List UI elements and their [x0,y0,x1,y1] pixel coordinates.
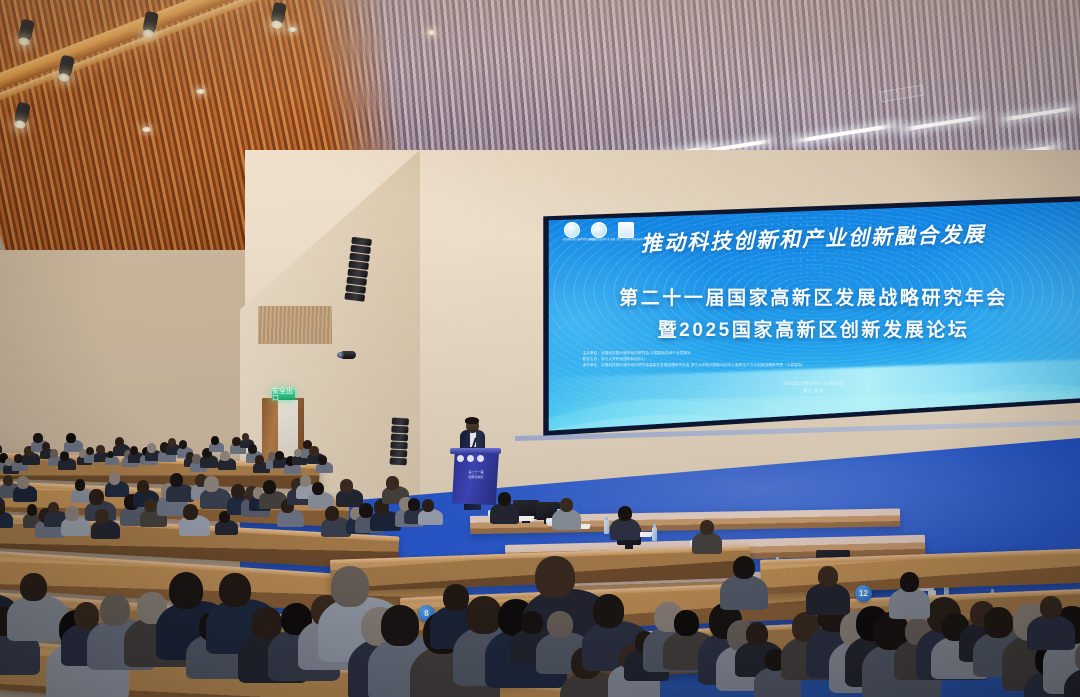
audience-head [231,484,245,499]
seat-number-badge[interactable]: 12 [855,585,872,602]
ceiling-downlight [288,27,297,32]
audience-head [75,479,86,491]
podium-label: 第二十一届 国家高新区 [456,470,496,479]
audience-head [255,455,264,464]
audience-head [263,480,276,494]
audience-head [535,556,575,598]
audience-head [211,436,219,445]
audience-head [204,476,219,492]
audience-head [144,499,157,513]
audience-head [248,444,257,454]
audience-head [17,476,29,489]
audience-head [20,573,47,602]
audience-head [325,506,339,521]
exit-sign-label: 安全出口 [272,388,295,402]
audience-shoulders [692,532,723,554]
audience-head [169,572,204,609]
audience-head [170,473,183,487]
audience-head [220,451,230,461]
organizer-line-3: 承办单位：全国科技振兴城市经济研究会高新区发展战略研究分会 浙江大学杭州国际科创… [583,362,806,368]
audience-head [115,437,124,447]
podium-top [450,448,501,454]
audience-head [66,433,76,444]
audience-head [443,584,469,611]
audience-head [168,438,176,447]
audience-head [340,479,353,493]
audience-shoulders [1027,615,1075,650]
audience-shoulders [806,583,850,615]
ceiling-downlight [196,89,205,94]
audience-head [331,566,369,607]
audience-head [130,446,139,455]
audience-shoulders [166,484,194,502]
screen-title-line-2: 暨2025国家高新区创新发展论坛 [545,321,1080,340]
audience-head [86,447,94,456]
water-bottle [604,520,609,534]
audience-head [309,446,318,456]
audience-head [147,443,156,452]
conference-hall-photo: 安全出口 全国科技振兴城市经济研究会 中国高新技术产业导报 [0,0,1080,697]
audience-head [386,476,399,490]
line-array-speaker [389,418,408,467]
audience-head [109,472,120,484]
audience-shoulders [889,588,931,618]
audience-head [733,556,755,579]
audience-head [48,502,59,514]
audience-head [96,445,104,454]
audience-head [521,611,543,634]
audience-head [746,622,769,646]
audience-head [381,605,419,645]
podium-label-line-2: 国家高新区 [456,475,496,480]
audience-head [984,607,1013,637]
podium-logos [457,455,484,462]
audience-head [318,455,327,465]
audience-shoulders [610,518,641,540]
audience-head [700,520,714,535]
audience-head [65,506,79,521]
audience-head [818,566,838,587]
audience-head [95,509,109,524]
audience-head [219,573,251,607]
screen-title-line-1: 第二十一届国家高新区发展战略研究年会 [545,289,1080,308]
screen-date-location: 2025年10月28日－10月30日 浙江·杭州 [545,380,1080,395]
audience-head [275,451,284,460]
screen-date: 2025年10月28日－10月30日 [545,380,1080,387]
ceiling-downlight [427,30,436,35]
audience-head [100,594,130,626]
audience-head [408,498,420,511]
audience-head [547,611,573,638]
screen-location: 浙江·杭州 [545,387,1080,394]
audience-head [89,489,104,505]
audience-head [1040,596,1062,619]
led-screen[interactable]: 全国科技振兴城市经济研究会 中国高新技术产业导报 浙江大学杭州国际科创中心 推动… [545,200,1080,432]
audience-head [137,480,149,493]
audience-head [422,499,434,512]
audience-head [674,610,699,636]
audience-head [27,504,38,515]
audience-head [560,498,573,512]
screen-organizer-text: 主办单位：全国科技振兴城市经济研究会 中国高新技术产业导报社 联合主办：浙江大学… [583,350,806,369]
audience-head [593,594,624,627]
audience-head [50,449,58,458]
audience-head [300,475,311,487]
wall-wood-slat-panel [258,306,332,344]
exit-sign: 安全出口 [272,389,295,400]
audience-shoulders [490,503,519,524]
audience-shoulders [552,509,581,530]
wall-camera [340,351,356,359]
audience-head [312,482,324,495]
audience-shoulders [0,444,2,454]
water-bottle [652,527,657,541]
speaker-hair [465,417,479,424]
audience-head [618,506,632,521]
ceiling-downlight [142,127,151,132]
audience-shoulders [720,575,768,610]
audience-head [183,504,198,520]
audience-head [14,454,22,463]
audience-head [498,492,511,506]
audience-head [900,572,919,592]
audience-head [33,433,42,443]
audience-head [60,451,70,461]
audience-head [466,596,502,634]
